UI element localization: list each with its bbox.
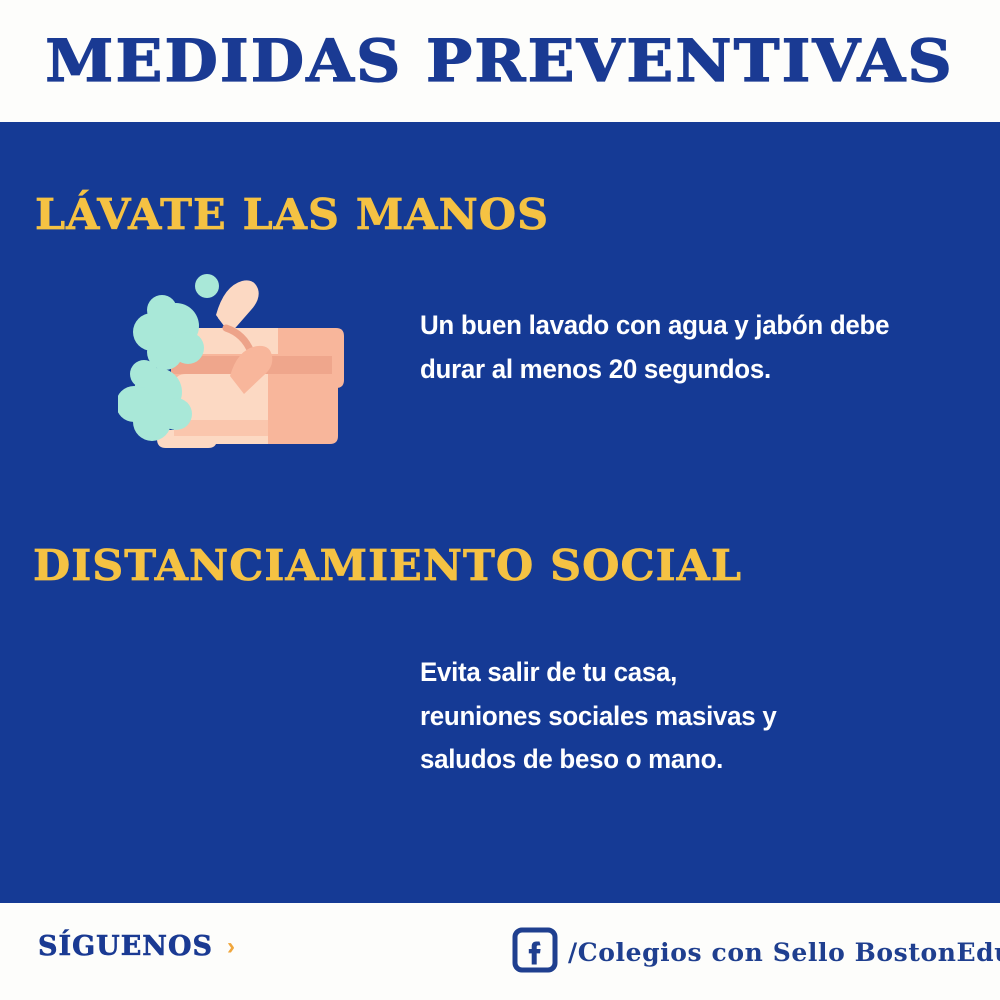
header-band: MEDIDAS PREVENTIVAS [0,0,1000,122]
body-line: saludos de beso o mano. [420,738,776,782]
body-line: durar al menos 20 segundos. [420,348,889,392]
section-heading-social-distancing: DISTANCIAMIENTO SOCIAL [33,545,742,587]
body-line: Un buen lavado con agua y jabón debe [420,304,889,348]
facebook-link[interactable]: /Colegios con Sello BostonEduca [512,927,1000,978]
section-body-wash-hands: Un buen lavado con agua y jabón debe dur… [420,304,889,391]
section-heading-wash-hands: LÁVATE LAS MANOS [35,194,549,236]
facebook-icon [512,927,558,978]
page-title: MEDIDAS PREVENTIVAS [46,32,955,90]
follow-us-label: SÍGUENOS [38,933,213,960]
footer-band: SÍGUENOS › /Colegios con Sello BostonEdu… [0,903,1000,1000]
follow-us-link[interactable]: SÍGUENOS › [38,933,235,960]
washing-hands-icon [118,270,344,475]
main-panel: LÁVATE LAS MANOS [0,122,1000,903]
facebook-handle: /Colegios con Sello BostonEduca [568,940,1000,965]
preventive-measures-poster: MEDIDAS PREVENTIVAS LÁVATE LAS MANOS [0,0,1000,1000]
chevron-right-icon: › [227,935,235,959]
body-line: Evita salir de tu casa, [420,651,776,695]
body-line: reuniones sociales masivas y [420,695,776,739]
section-body-social-distancing: Evita salir de tu casa, reuniones social… [420,651,776,782]
